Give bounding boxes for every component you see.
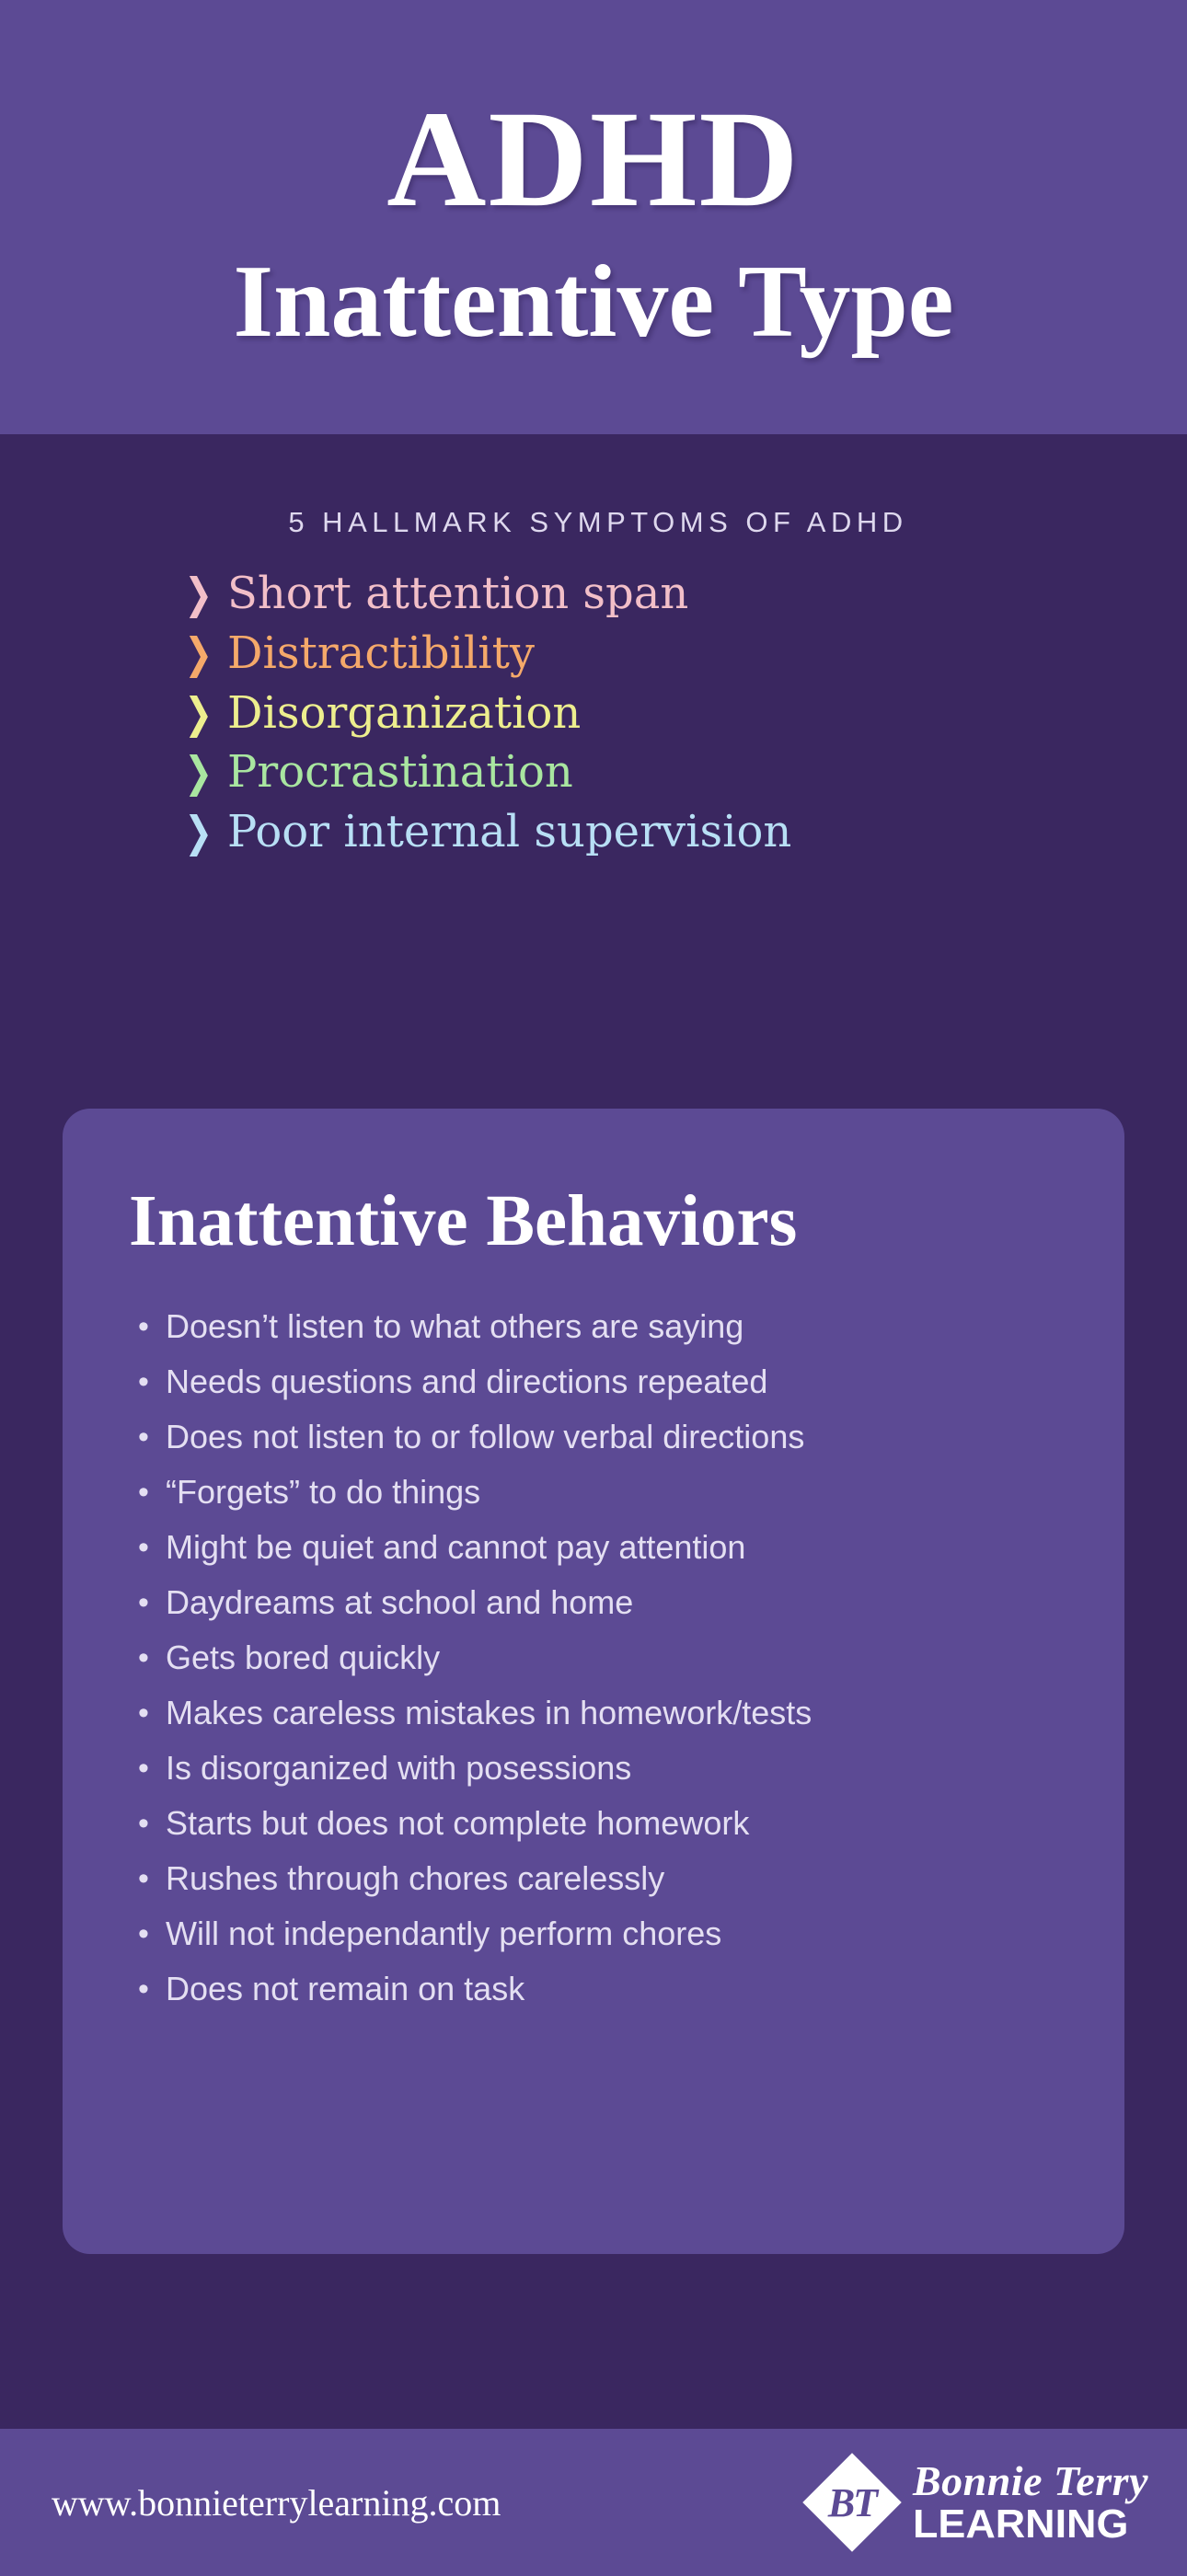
behavior-list-item: •Gets bored quickly	[133, 1636, 1067, 1680]
behavior-list-item: •Needs questions and directions repeated	[133, 1360, 1067, 1404]
symptom-item: ❯Disorganization	[179, 690, 1187, 738]
symptom-item: ❯Poor internal supervision	[179, 809, 1187, 857]
behavior-list-item: •Doesn’t listen to what others are sayin…	[133, 1305, 1067, 1349]
symptom-label: Poor internal supervision	[227, 809, 791, 857]
infographic-poster: ADHD Inattentive Type 5 HALLMARK SYMPTOM…	[0, 0, 1187, 2576]
symptom-label: Procrastination	[227, 749, 573, 797]
bullet-icon: •	[133, 1415, 166, 1459]
behavior-list-item: •Rushes through chores carelessly	[133, 1857, 1067, 1901]
bullet-icon: •	[133, 1581, 166, 1625]
diamond-icon: BT	[804, 2455, 900, 2550]
website-url[interactable]: www.bonnieterrylearning.com	[52, 2481, 501, 2524]
behavior-text: Does not remain on task	[166, 1967, 524, 2011]
behavior-list-item: •Will not independantly perform chores	[133, 1912, 1067, 1956]
behavior-text: Starts but does not complete homework	[166, 1801, 749, 1846]
chevron-right-icon: ❯	[184, 632, 223, 674]
logo-monogram: BT	[804, 2455, 900, 2550]
bullet-icon: •	[133, 1746, 166, 1790]
behavior-list-item: •Does not remain on task	[133, 1967, 1067, 2011]
symptoms-section: 5 HALLMARK SYMPTOMS OF ADHD ❯Short atten…	[0, 434, 1187, 868]
page-subtitle: Inattentive Type	[234, 247, 954, 358]
chevron-right-icon: ❯	[184, 572, 223, 615]
bullet-icon: •	[133, 1305, 166, 1349]
bullet-icon: •	[133, 1360, 166, 1404]
bullet-icon: •	[133, 1857, 166, 1901]
logo-wordmark: Bonnie Terry LEARNING	[913, 2460, 1148, 2545]
inattentive-behaviors-card: Inattentive Behaviors •Doesn’t listen to…	[63, 1109, 1124, 2254]
symptom-label: Disorganization	[227, 690, 581, 738]
bullet-icon: •	[133, 1470, 166, 1514]
behavior-text: Might be quiet and cannot pay attention	[166, 1525, 745, 1570]
behavior-list-item: •Starts but does not complete homework	[133, 1801, 1067, 1846]
behavior-list-item: •Might be quiet and cannot pay attention	[133, 1525, 1067, 1570]
bullet-icon: •	[133, 1525, 166, 1570]
chevron-right-icon: ❯	[184, 692, 223, 734]
behavior-list-item: •Daydreams at school and home	[133, 1581, 1067, 1625]
behavior-text: “Forgets” to do things	[166, 1470, 480, 1514]
bullet-icon: •	[133, 1691, 166, 1735]
symptom-item: ❯Short attention span	[179, 570, 1187, 618]
symptom-label: Distractibility	[227, 630, 535, 678]
behavior-text: Needs questions and directions repeated	[166, 1360, 767, 1404]
behavior-list-item: •Is disorganized with posessions	[133, 1746, 1067, 1790]
chevron-right-icon: ❯	[184, 751, 223, 793]
behavior-list-item: •Makes careless mistakes in homework/tes…	[133, 1691, 1067, 1735]
card-title: Inattentive Behaviors	[120, 1180, 1067, 1263]
behavior-text: Doesn’t listen to what others are saying	[166, 1305, 743, 1349]
poster-header: ADHD Inattentive Type	[0, 0, 1187, 434]
symptoms-list: ❯Short attention span❯Distractibility❯Di…	[0, 570, 1187, 857]
behavior-list-item: •“Forgets” to do things	[133, 1470, 1067, 1514]
logo-brand-name: Bonnie Terry	[913, 2460, 1148, 2502]
behavior-text: Does not listen to or follow verbal dire…	[166, 1415, 804, 1459]
symptom-label: Short attention span	[227, 570, 688, 618]
bullet-icon: •	[133, 1967, 166, 2011]
symptoms-heading: 5 HALLMARK SYMPTOMS OF ADHD	[0, 506, 1187, 539]
brand-logo: BT Bonnie Terry LEARNING	[804, 2455, 1148, 2550]
symptom-item: ❯Distractibility	[179, 630, 1187, 678]
behavior-text: Daydreams at school and home	[166, 1581, 633, 1625]
page-title: ADHD	[386, 90, 801, 228]
logo-brand-sub: LEARNING	[913, 2504, 1153, 2545]
behavior-text: Gets bored quickly	[166, 1636, 440, 1680]
behavior-text: Rushes through chores carelessly	[166, 1857, 664, 1901]
behaviors-list: •Doesn’t listen to what others are sayin…	[120, 1305, 1067, 2011]
bullet-icon: •	[133, 1912, 166, 1956]
chevron-right-icon: ❯	[184, 811, 223, 853]
bullet-icon: •	[133, 1636, 166, 1680]
behavior-text: Is disorganized with posessions	[166, 1746, 631, 1790]
behavior-text: Will not independantly perform chores	[166, 1912, 721, 1956]
symptom-item: ❯Procrastination	[179, 749, 1187, 797]
poster-footer: www.bonnieterrylearning.com BT Bonnie Te…	[0, 2429, 1187, 2576]
behavior-text: Makes careless mistakes in homework/test…	[166, 1691, 812, 1735]
bullet-icon: •	[133, 1801, 166, 1846]
behavior-list-item: •Does not listen to or follow verbal dir…	[133, 1415, 1067, 1459]
